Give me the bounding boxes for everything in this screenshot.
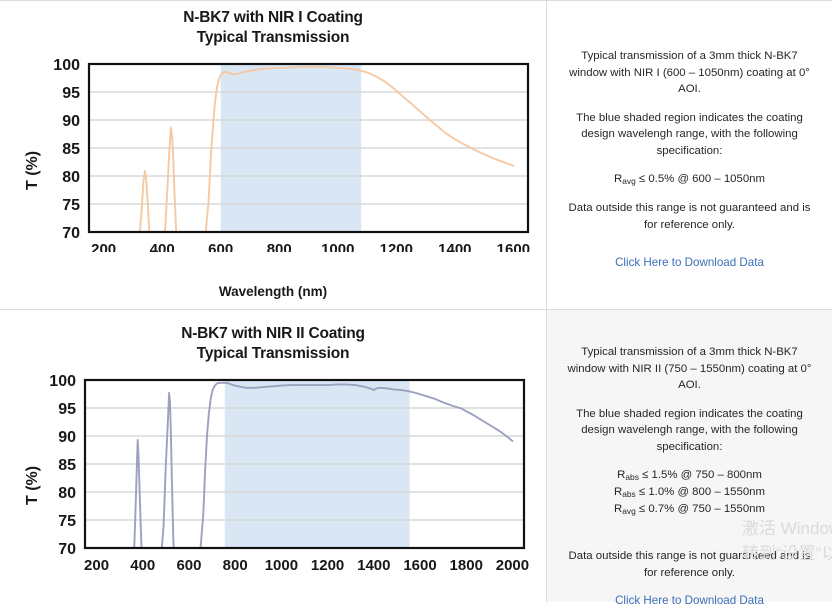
spec-line: Rabs ≤ 1.5% @ 750 – 800nm [565, 467, 814, 484]
nir2-paragraph-3: Data outside this range is not guarantee… [565, 548, 814, 581]
spec-value: ≤ 1.0% @ 800 – 1550nm [636, 486, 765, 498]
nir1-description-text: Typical transmission of a 3mm thick N-BK… [565, 48, 814, 272]
y-tick-label: 85 [58, 457, 76, 474]
nir1-title-line2: Typical Transmission [0, 28, 546, 48]
spec-symbol: R [614, 173, 622, 185]
nir1-plot-svg: 7075808590951002004006008001000120014001… [0, 52, 546, 252]
y-tick-label: 100 [53, 57, 80, 74]
spec-value: ≤ 0.5% @ 600 – 1050nm [636, 173, 765, 185]
horizontal-divider [0, 309, 832, 310]
nir2-chart-title: N-BK7 with NIR II Coating Typical Transm… [0, 324, 546, 364]
nir1-chart-panel: N-BK7 with NIR I Coating Typical Transmi… [0, 0, 546, 309]
nir1-spec-list: Ravg ≤ 0.5% @ 600 – 1050nm [565, 171, 814, 188]
x-tick-label: 200 [91, 241, 116, 252]
spec-subscript: avg [622, 176, 636, 186]
y-tick-label: 90 [62, 113, 80, 130]
nir2-paragraph-2: The blue shaded region indicates the coa… [565, 406, 814, 456]
nir1-title-line1: N-BK7 with NIR I Coating [183, 9, 362, 26]
spec-line: Ravg ≤ 0.5% @ 600 – 1050nm [565, 171, 814, 188]
x-tick-label: 1000 [321, 241, 354, 252]
transmission-spec-sheet: N-BK7 with NIR I Coating Typical Transmi… [0, 0, 832, 602]
spec-subscript: abs [625, 472, 639, 482]
x-tick-label: 600 [176, 557, 201, 574]
y-tick-label: 85 [62, 141, 80, 158]
nir1-paragraph-2: The blue shaded region indicates the coa… [565, 110, 814, 160]
y-tick-label: 95 [58, 401, 76, 418]
x-tick-label: 1400 [357, 557, 390, 574]
x-tick-label: 400 [130, 557, 155, 574]
y-tick-label: 70 [62, 225, 80, 242]
x-tick-label: 200 [84, 557, 109, 574]
nir1-plot-area: 7075808590951002004006008001000120014001… [0, 52, 546, 252]
nir2-title-line1: N-BK7 with NIR II Coating [181, 325, 365, 342]
x-tick-label: 1000 [265, 557, 298, 574]
x-tick-label: 1200 [311, 557, 344, 574]
nir2-description-text: Typical transmission of a 3mm thick N-BK… [565, 344, 814, 610]
nir2-description-panel: Typical transmission of a 3mm thick N-BK… [547, 310, 832, 602]
x-tick-label: 1800 [450, 557, 483, 574]
y-tick-label: 90 [58, 429, 76, 446]
spec-symbol: R [614, 503, 622, 515]
y-tick-label: 80 [62, 169, 80, 186]
x-tick-label: 800 [267, 241, 292, 252]
nir1-download-data-link[interactable]: Click Here to Download Data [565, 255, 814, 272]
nir2-title-line2: Typical Transmission [0, 344, 546, 364]
spec-symbol: R [614, 486, 622, 498]
x-tick-label: 1400 [438, 241, 471, 252]
y-tick-label: 75 [58, 513, 76, 530]
x-tick-label: 600 [208, 241, 233, 252]
y-tick-label: 95 [62, 85, 80, 102]
y-tick-label: 100 [49, 373, 76, 390]
x-tick-label: 2000 [496, 557, 529, 574]
y-tick-label: 80 [58, 485, 76, 502]
spec-line: Ravg ≤ 0.7% @ 750 – 1550nm [565, 501, 814, 518]
x-tick-label: 1600 [403, 557, 436, 574]
spec-subscript: avg [622, 506, 636, 516]
spec-value: ≤ 1.5% @ 750 – 800nm [639, 469, 762, 481]
x-tick-label: 400 [150, 241, 175, 252]
x-tick-label: 1200 [380, 241, 413, 252]
nir1-chart-title: N-BK7 with NIR I Coating Typical Transmi… [0, 8, 546, 48]
y-tick-label: 70 [58, 541, 76, 558]
x-tick-label: 800 [223, 557, 248, 574]
nir2-download-data-link[interactable]: Click Here to Download Data [565, 593, 814, 610]
nir2-plot-area: 7075808590951002004006008001000120014001… [0, 368, 546, 602]
spec-value: ≤ 0.7% @ 750 – 1550nm [636, 503, 765, 515]
nir2-paragraph-1: Typical transmission of a 3mm thick N-BK… [565, 344, 814, 394]
nir2-chart-panel: N-BK7 with NIR II Coating Typical Transm… [0, 310, 546, 602]
nir1-paragraph-1: Typical transmission of a 3mm thick N-BK… [565, 48, 814, 98]
nir2-plot-svg: 7075808590951002004006008001000120014001… [0, 368, 546, 602]
vertical-divider [546, 0, 547, 602]
x-tick-label: 1600 [497, 241, 530, 252]
nir2-spec-list: Rabs ≤ 1.5% @ 750 – 800nmRabs ≤ 1.0% @ 8… [565, 467, 814, 518]
spec-subscript: abs [622, 489, 636, 499]
nir1-paragraph-3: Data outside this range is not guarantee… [565, 200, 814, 233]
nir1-description-panel: Typical transmission of a 3mm thick N-BK… [547, 0, 832, 309]
nir1-x-axis-label: Wavelength (nm) [0, 284, 546, 299]
y-tick-label: 75 [62, 197, 80, 214]
top-edge-divider [0, 0, 832, 1]
spec-line: Rabs ≤ 1.0% @ 800 – 1550nm [565, 484, 814, 501]
